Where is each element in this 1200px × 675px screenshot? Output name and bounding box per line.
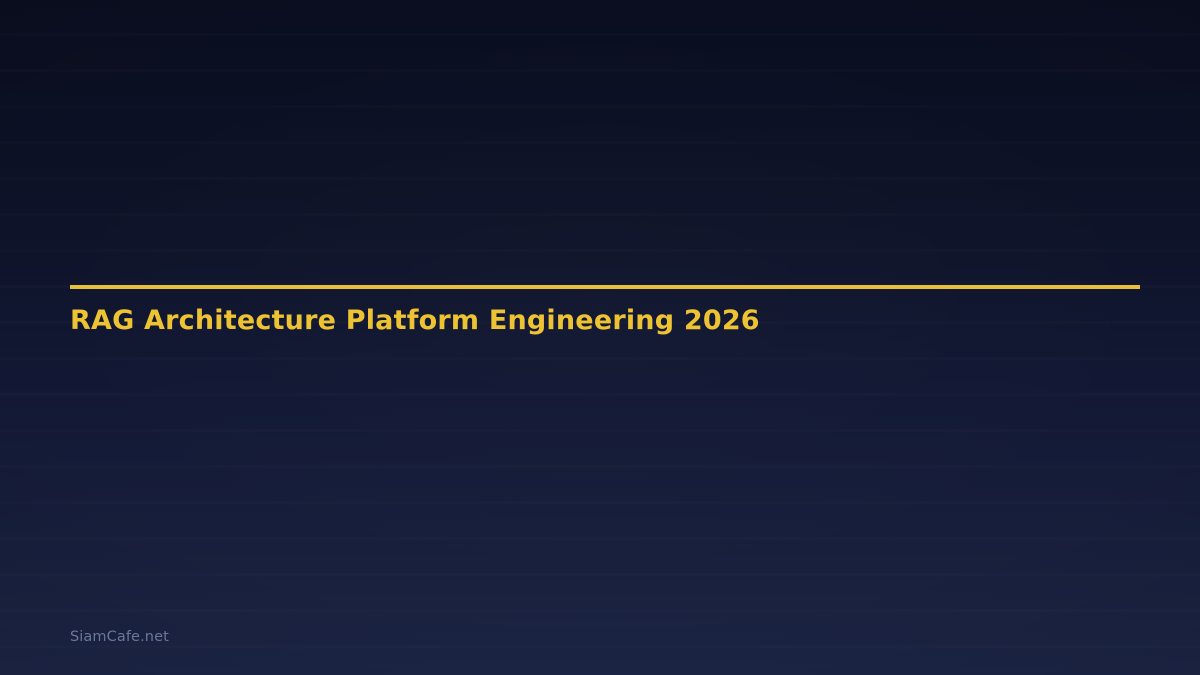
background-banding-overlay (0, 0, 1200, 675)
page-title: RAG Architecture Platform Engineering 20… (70, 289, 1140, 337)
title-slide: RAG Architecture Platform Engineering 20… (0, 0, 1200, 675)
background-vignette-overlay (0, 0, 1200, 675)
title-block: RAG Architecture Platform Engineering 20… (70, 285, 1140, 337)
footer-branding: SiamCafe.net (70, 629, 169, 645)
